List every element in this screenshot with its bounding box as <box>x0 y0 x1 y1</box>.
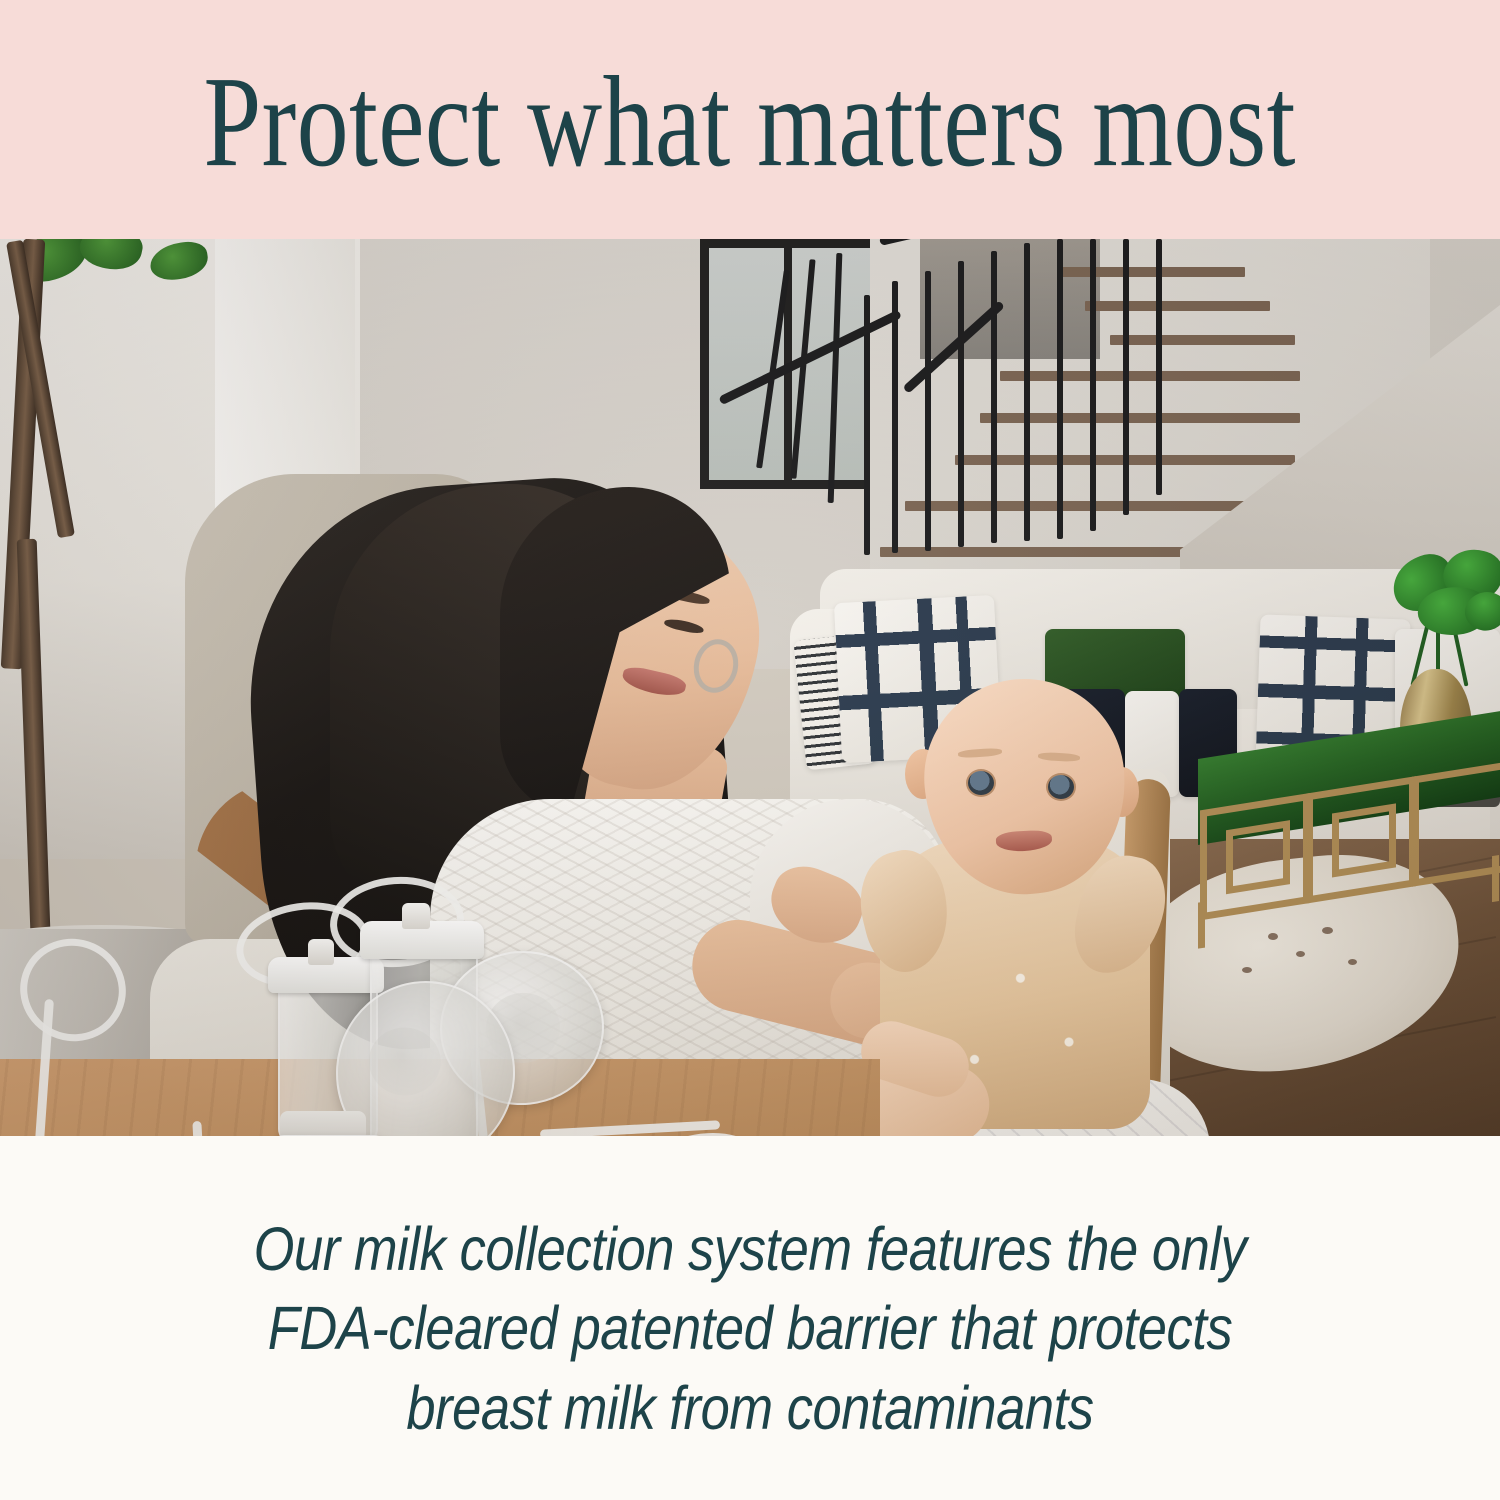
caption-band: Our milk collection system features the … <box>0 1136 1500 1500</box>
tubing-port <box>308 939 334 965</box>
baluster <box>991 251 997 543</box>
bottle-neck-ring <box>280 1111 366 1136</box>
baluster <box>1024 243 1030 541</box>
baby-eye <box>966 769 996 797</box>
stair-shadow <box>920 239 1100 359</box>
promo-graphic: Protect what matters most <box>0 0 1500 1500</box>
greek-key-motif <box>1226 820 1290 894</box>
greek-key-motif <box>1332 803 1396 877</box>
baluster <box>958 261 964 547</box>
baluster <box>925 271 931 551</box>
bench-leg <box>1198 902 1205 949</box>
rug-spot <box>1242 967 1252 973</box>
header-band: Protect what matters most <box>0 0 1500 239</box>
baluster <box>1090 239 1096 531</box>
bench-leg <box>1492 855 1499 902</box>
baby-eye <box>1046 773 1076 801</box>
greek-key-motif <box>1412 761 1500 887</box>
stair-tread <box>1085 301 1270 311</box>
lifestyle-photo: Motif Luna <box>0 239 1500 1136</box>
shield-tunnel <box>366 1025 443 1098</box>
caption-text: Our milk collection system features the … <box>221 1188 1279 1448</box>
baluster <box>1123 239 1129 515</box>
stair-tread <box>1060 267 1245 277</box>
stair-tread <box>1000 371 1300 381</box>
page-title: Protect what matters most <box>204 52 1296 186</box>
tubing-port <box>402 903 430 929</box>
stair-tread <box>1110 335 1295 345</box>
baluster <box>1156 239 1162 495</box>
baluster <box>1057 239 1063 539</box>
rug-spot <box>1296 951 1305 957</box>
rug-spot <box>1348 959 1357 965</box>
